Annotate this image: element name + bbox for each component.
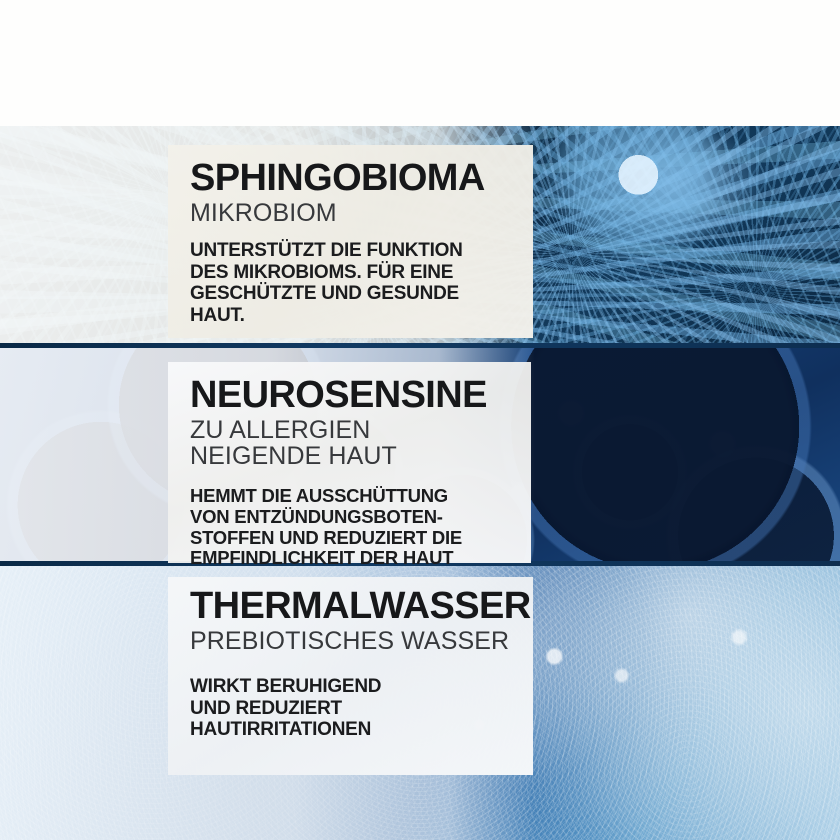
text-panel-thermalwasser: THERMALWASSER PREBIOTISCHES WASSER WIRKT… (168, 577, 533, 775)
ingredient-description: HEMMT DIE AUSSCHÜTTUNG VON ENTZÜNDUNGSBO… (190, 486, 513, 570)
ingredients-poster: INHALTSSTOFFE SPHINGOBIOMA MIKROBIOM UNT… (0, 0, 840, 840)
text-panel-neurosensine: NEUROSENSINE ZU ALLERGIEN NEIGENDE HAUT … (168, 362, 531, 563)
text-panel-sphingobioma: SPHINGOBIOMA MIKROBIOM UNTERSTÜTZT DIE F… (168, 145, 533, 338)
ingredient-subtitle: ZU ALLERGIEN NEIGENDE HAUT (190, 417, 513, 470)
ingredient-description: UNTERSTÜTZT DIE FUNKTION DES MIKROBIOMS.… (190, 240, 515, 326)
ingredient-subtitle: MIKROBIOM (190, 200, 515, 227)
ingredient-name: THERMALWASSER (190, 587, 515, 626)
ingredient-description: WIRKT BERUHIGEND UND REDUZIERT HAUTIRRIT… (190, 676, 515, 740)
ingredient-name: NEUROSENSINE (190, 376, 513, 415)
ingredient-name: SPHINGOBIOMA (190, 159, 515, 198)
header-band (0, 0, 840, 126)
section-seam-divider-1 (0, 343, 840, 348)
ingredient-subtitle: PREBIOTISCHES WASSER (190, 628, 515, 655)
